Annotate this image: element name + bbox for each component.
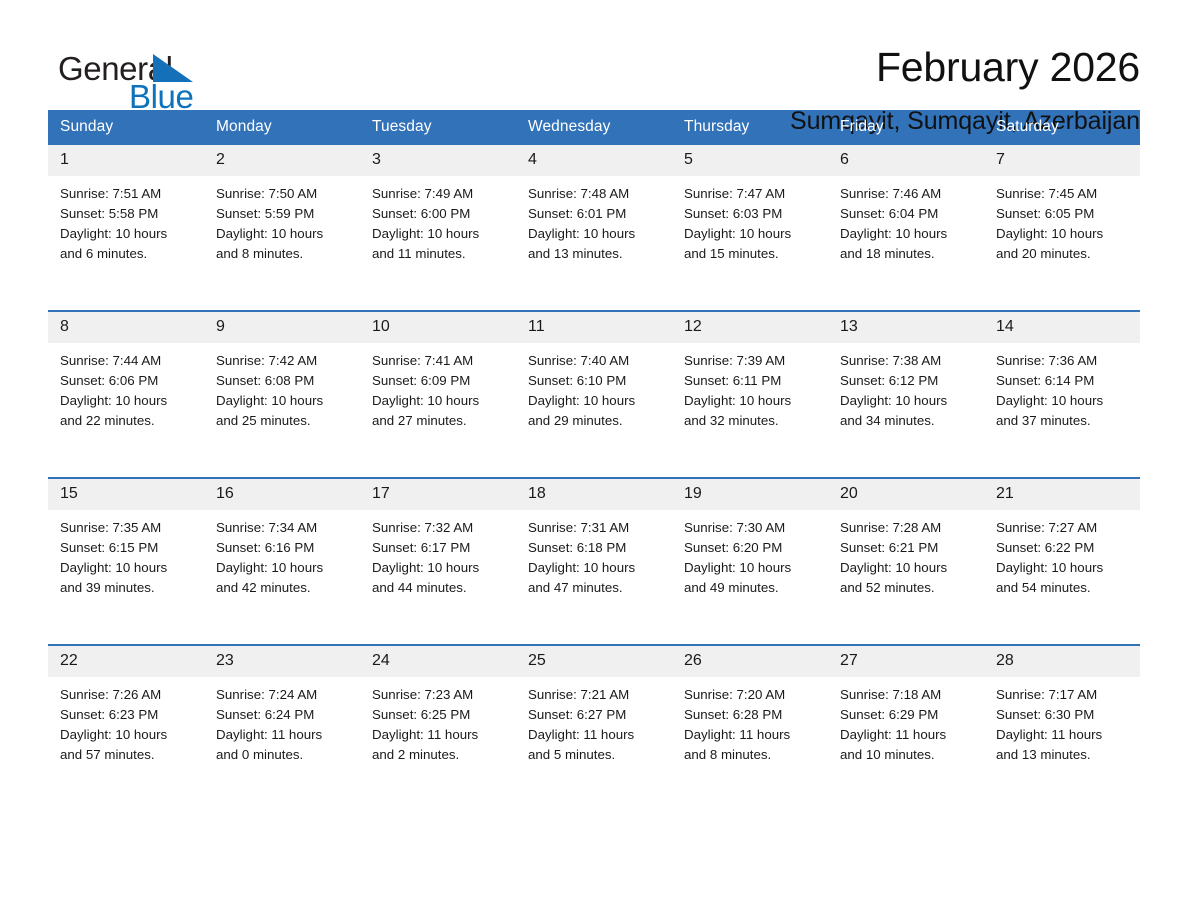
calendar-day-cell[interactable]: 16Sunrise: 7:34 AMSunset: 6:16 PMDayligh…: [204, 478, 360, 645]
daylight-line1-text: Daylight: 11 hours: [996, 725, 1132, 745]
day-details: Sunrise: 7:42 AMSunset: 6:08 PMDaylight:…: [204, 343, 360, 431]
calendar-day-cell[interactable]: 24Sunrise: 7:23 AMSunset: 6:25 PMDayligh…: [360, 645, 516, 811]
calendar-day-cell[interactable]: 21Sunrise: 7:27 AMSunset: 6:22 PMDayligh…: [984, 478, 1140, 645]
sunrise-text: Sunrise: 7:38 AM: [840, 351, 976, 371]
daylight-line1-text: Daylight: 10 hours: [996, 224, 1132, 244]
day-number: 14: [984, 312, 1140, 343]
sunset-text: Sunset: 6:11 PM: [684, 371, 820, 391]
daylight-line2-text: and 52 minutes.: [840, 578, 976, 598]
sunrise-text: Sunrise: 7:49 AM: [372, 184, 508, 204]
daylight-line1-text: Daylight: 10 hours: [216, 224, 352, 244]
day-details: Sunrise: 7:27 AMSunset: 6:22 PMDaylight:…: [984, 510, 1140, 598]
day-details: Sunrise: 7:26 AMSunset: 6:23 PMDaylight:…: [48, 677, 204, 765]
day-number: 2: [204, 145, 360, 176]
day-number: 13: [828, 312, 984, 343]
day-number: 5: [672, 145, 828, 176]
daylight-line2-text: and 25 minutes.: [216, 411, 352, 431]
daylight-line2-text: and 8 minutes.: [216, 244, 352, 264]
day-details: Sunrise: 7:34 AMSunset: 6:16 PMDaylight:…: [204, 510, 360, 598]
calendar-day-cell[interactable]: 3Sunrise: 7:49 AMSunset: 6:00 PMDaylight…: [360, 145, 516, 311]
day-details: Sunrise: 7:24 AMSunset: 6:24 PMDaylight:…: [204, 677, 360, 765]
sunrise-text: Sunrise: 7:44 AM: [60, 351, 196, 371]
daylight-line2-text: and 42 minutes.: [216, 578, 352, 598]
sunrise-text: Sunrise: 7:35 AM: [60, 518, 196, 538]
day-details: Sunrise: 7:35 AMSunset: 6:15 PMDaylight:…: [48, 510, 204, 598]
daylight-line1-text: Daylight: 10 hours: [840, 391, 976, 411]
day-details: Sunrise: 7:47 AMSunset: 6:03 PMDaylight:…: [672, 176, 828, 264]
sunset-text: Sunset: 6:22 PM: [996, 538, 1132, 558]
calendar-day-cell[interactable]: 4Sunrise: 7:48 AMSunset: 6:01 PMDaylight…: [516, 145, 672, 311]
calendar-day-cell[interactable]: 22Sunrise: 7:26 AMSunset: 6:23 PMDayligh…: [48, 645, 204, 811]
day-details: Sunrise: 7:48 AMSunset: 6:01 PMDaylight:…: [516, 176, 672, 264]
sunset-text: Sunset: 6:17 PM: [372, 538, 508, 558]
calendar-week-row: 1Sunrise: 7:51 AMSunset: 5:58 PMDaylight…: [48, 145, 1140, 311]
daylight-line1-text: Daylight: 10 hours: [372, 391, 508, 411]
day-details: Sunrise: 7:23 AMSunset: 6:25 PMDaylight:…: [360, 677, 516, 765]
daylight-line2-text: and 18 minutes.: [840, 244, 976, 264]
logo-text-blue: Blue: [129, 80, 193, 113]
sunrise-text: Sunrise: 7:45 AM: [996, 184, 1132, 204]
sunrise-text: Sunrise: 7:36 AM: [996, 351, 1132, 371]
calendar-day-cell[interactable]: 7Sunrise: 7:45 AMSunset: 6:05 PMDaylight…: [984, 145, 1140, 311]
page-title: February 2026: [208, 44, 1140, 90]
calendar-day-cell[interactable]: 10Sunrise: 7:41 AMSunset: 6:09 PMDayligh…: [360, 311, 516, 478]
daylight-line2-text: and 32 minutes.: [684, 411, 820, 431]
sunrise-text: Sunrise: 7:41 AM: [372, 351, 508, 371]
day-number: 11: [516, 312, 672, 343]
day-number: 24: [360, 646, 516, 677]
calendar-day-cell[interactable]: 15Sunrise: 7:35 AMSunset: 6:15 PMDayligh…: [48, 478, 204, 645]
daylight-line2-text: and 37 minutes.: [996, 411, 1132, 431]
day-number: 15: [48, 479, 204, 510]
sunset-text: Sunset: 6:05 PM: [996, 204, 1132, 224]
calendar-day-cell[interactable]: 20Sunrise: 7:28 AMSunset: 6:21 PMDayligh…: [828, 478, 984, 645]
daylight-line1-text: Daylight: 10 hours: [996, 391, 1132, 411]
calendar-day-cell[interactable]: 14Sunrise: 7:36 AMSunset: 6:14 PMDayligh…: [984, 311, 1140, 478]
sunset-text: Sunset: 6:28 PM: [684, 705, 820, 725]
daylight-line2-text: and 2 minutes.: [372, 745, 508, 765]
daylight-line2-text: and 49 minutes.: [684, 578, 820, 598]
day-number: 6: [828, 145, 984, 176]
sunset-text: Sunset: 6:08 PM: [216, 371, 352, 391]
day-number: 16: [204, 479, 360, 510]
calendar-day-cell[interactable]: 13Sunrise: 7:38 AMSunset: 6:12 PMDayligh…: [828, 311, 984, 478]
day-details: Sunrise: 7:21 AMSunset: 6:27 PMDaylight:…: [516, 677, 672, 765]
day-details: Sunrise: 7:51 AMSunset: 5:58 PMDaylight:…: [48, 176, 204, 264]
daylight-line1-text: Daylight: 10 hours: [216, 558, 352, 578]
calendar-day-cell[interactable]: 12Sunrise: 7:39 AMSunset: 6:11 PMDayligh…: [672, 311, 828, 478]
daylight-line2-text: and 10 minutes.: [840, 745, 976, 765]
calendar-week-row: 8Sunrise: 7:44 AMSunset: 6:06 PMDaylight…: [48, 311, 1140, 478]
day-number: 9: [204, 312, 360, 343]
daylight-line1-text: Daylight: 10 hours: [216, 391, 352, 411]
calendar-day-cell[interactable]: 17Sunrise: 7:32 AMSunset: 6:17 PMDayligh…: [360, 478, 516, 645]
day-details: Sunrise: 7:44 AMSunset: 6:06 PMDaylight:…: [48, 343, 204, 431]
daylight-line2-text: and 54 minutes.: [996, 578, 1132, 598]
sunset-text: Sunset: 6:10 PM: [528, 371, 664, 391]
daylight-line2-text: and 47 minutes.: [528, 578, 664, 598]
day-number: 12: [672, 312, 828, 343]
calendar-week-row: 22Sunrise: 7:26 AMSunset: 6:23 PMDayligh…: [48, 645, 1140, 811]
daylight-line1-text: Daylight: 11 hours: [216, 725, 352, 745]
calendar-day-cell[interactable]: 25Sunrise: 7:21 AMSunset: 6:27 PMDayligh…: [516, 645, 672, 811]
day-details: Sunrise: 7:39 AMSunset: 6:11 PMDaylight:…: [672, 343, 828, 431]
daylight-line2-text: and 20 minutes.: [996, 244, 1132, 264]
daylight-line2-text: and 13 minutes.: [528, 244, 664, 264]
calendar-week-row: 15Sunrise: 7:35 AMSunset: 6:15 PMDayligh…: [48, 478, 1140, 645]
daylight-line2-text: and 27 minutes.: [372, 411, 508, 431]
sunset-text: Sunset: 6:01 PM: [528, 204, 664, 224]
calendar-day-cell[interactable]: 23Sunrise: 7:24 AMSunset: 6:24 PMDayligh…: [204, 645, 360, 811]
calendar-day-cell[interactable]: 11Sunrise: 7:40 AMSunset: 6:10 PMDayligh…: [516, 311, 672, 478]
sunset-text: Sunset: 6:27 PM: [528, 705, 664, 725]
day-details: Sunrise: 7:40 AMSunset: 6:10 PMDaylight:…: [516, 343, 672, 431]
page-header: General Blue February 2026 Sumqayit, Sum…: [48, 0, 1140, 96]
calendar-day-cell[interactable]: 8Sunrise: 7:44 AMSunset: 6:06 PMDaylight…: [48, 311, 204, 478]
sunrise-text: Sunrise: 7:42 AM: [216, 351, 352, 371]
daylight-line1-text: Daylight: 10 hours: [684, 391, 820, 411]
day-details: Sunrise: 7:50 AMSunset: 5:59 PMDaylight:…: [204, 176, 360, 264]
sunrise-text: Sunrise: 7:26 AM: [60, 685, 196, 705]
calendar-body: 1Sunrise: 7:51 AMSunset: 5:58 PMDaylight…: [48, 145, 1140, 811]
daylight-line1-text: Daylight: 11 hours: [528, 725, 664, 745]
sunrise-text: Sunrise: 7:32 AM: [372, 518, 508, 538]
calendar-day-cell[interactable]: 27Sunrise: 7:18 AMSunset: 6:29 PMDayligh…: [828, 645, 984, 811]
sunrise-text: Sunrise: 7:40 AM: [528, 351, 664, 371]
day-details: Sunrise: 7:30 AMSunset: 6:20 PMDaylight:…: [672, 510, 828, 598]
sunset-text: Sunset: 6:25 PM: [372, 705, 508, 725]
day-number: 3: [360, 145, 516, 176]
daylight-line2-text: and 13 minutes.: [996, 745, 1132, 765]
sunset-text: Sunset: 6:14 PM: [996, 371, 1132, 391]
sunrise-text: Sunrise: 7:28 AM: [840, 518, 976, 538]
daylight-line1-text: Daylight: 11 hours: [840, 725, 976, 745]
daylight-line1-text: Daylight: 10 hours: [372, 558, 508, 578]
day-number: 20: [828, 479, 984, 510]
calendar-day-cell[interactable]: 19Sunrise: 7:30 AMSunset: 6:20 PMDayligh…: [672, 478, 828, 645]
sunset-text: Sunset: 6:00 PM: [372, 204, 508, 224]
daylight-line2-text: and 44 minutes.: [372, 578, 508, 598]
daylight-line2-text: and 22 minutes.: [60, 411, 196, 431]
daylight-line1-text: Daylight: 10 hours: [684, 558, 820, 578]
calendar-day-cell[interactable]: 1Sunrise: 7:51 AMSunset: 5:58 PMDaylight…: [48, 145, 204, 311]
sunset-text: Sunset: 6:20 PM: [684, 538, 820, 558]
sunset-text: Sunset: 5:58 PM: [60, 204, 196, 224]
calendar-day-cell[interactable]: 18Sunrise: 7:31 AMSunset: 6:18 PMDayligh…: [516, 478, 672, 645]
daylight-line2-text: and 0 minutes.: [216, 745, 352, 765]
day-number: 21: [984, 479, 1140, 510]
sunrise-text: Sunrise: 7:18 AM: [840, 685, 976, 705]
sunrise-text: Sunrise: 7:20 AM: [684, 685, 820, 705]
day-number: 27: [828, 646, 984, 677]
daylight-line2-text: and 8 minutes.: [684, 745, 820, 765]
sunrise-text: Sunrise: 7:34 AM: [216, 518, 352, 538]
daylight-line1-text: Daylight: 10 hours: [60, 391, 196, 411]
day-number: 26: [672, 646, 828, 677]
day-details: Sunrise: 7:41 AMSunset: 6:09 PMDaylight:…: [360, 343, 516, 431]
daylight-line1-text: Daylight: 10 hours: [840, 224, 976, 244]
calendar-day-cell[interactable]: 2Sunrise: 7:50 AMSunset: 5:59 PMDaylight…: [204, 145, 360, 311]
daylight-line1-text: Daylight: 10 hours: [60, 224, 196, 244]
daylight-line2-text: and 11 minutes.: [372, 244, 508, 264]
sunset-text: Sunset: 6:04 PM: [840, 204, 976, 224]
sunrise-text: Sunrise: 7:24 AM: [216, 685, 352, 705]
calendar-day-cell[interactable]: 5Sunrise: 7:47 AMSunset: 6:03 PMDaylight…: [672, 145, 828, 311]
day-number: 1: [48, 145, 204, 176]
day-details: Sunrise: 7:20 AMSunset: 6:28 PMDaylight:…: [672, 677, 828, 765]
sunrise-text: Sunrise: 7:30 AM: [684, 518, 820, 538]
calendar-day-cell[interactable]: 26Sunrise: 7:20 AMSunset: 6:28 PMDayligh…: [672, 645, 828, 811]
day-number: 18: [516, 479, 672, 510]
sunset-text: Sunset: 6:16 PM: [216, 538, 352, 558]
day-number: 28: [984, 646, 1140, 677]
daylight-line2-text: and 34 minutes.: [840, 411, 976, 431]
sunset-text: Sunset: 6:09 PM: [372, 371, 508, 391]
sunset-text: Sunset: 6:23 PM: [60, 705, 196, 725]
daylight-line2-text: and 6 minutes.: [60, 244, 196, 264]
sunset-text: Sunset: 5:59 PM: [216, 204, 352, 224]
calendar-table: Sunday Monday Tuesday Wednesday Thursday…: [48, 110, 1140, 811]
daylight-line1-text: Daylight: 11 hours: [684, 725, 820, 745]
sunset-text: Sunset: 6:21 PM: [840, 538, 976, 558]
daylight-line1-text: Daylight: 11 hours: [372, 725, 508, 745]
daylight-line1-text: Daylight: 10 hours: [528, 391, 664, 411]
day-number: 10: [360, 312, 516, 343]
day-details: Sunrise: 7:38 AMSunset: 6:12 PMDaylight:…: [828, 343, 984, 431]
day-number: 23: [204, 646, 360, 677]
sunrise-text: Sunrise: 7:27 AM: [996, 518, 1132, 538]
calendar-day-cell[interactable]: 6Sunrise: 7:46 AMSunset: 6:04 PMDaylight…: [828, 145, 984, 311]
sunrise-text: Sunrise: 7:46 AM: [840, 184, 976, 204]
day-details: Sunrise: 7:49 AMSunset: 6:00 PMDaylight:…: [360, 176, 516, 264]
sunrise-text: Sunrise: 7:39 AM: [684, 351, 820, 371]
sunrise-text: Sunrise: 7:21 AM: [528, 685, 664, 705]
day-details: Sunrise: 7:18 AMSunset: 6:29 PMDaylight:…: [828, 677, 984, 765]
day-details: Sunrise: 7:45 AMSunset: 6:05 PMDaylight:…: [984, 176, 1140, 264]
sunset-text: Sunset: 6:12 PM: [840, 371, 976, 391]
daylight-line2-text: and 5 minutes.: [528, 745, 664, 765]
daylight-line1-text: Daylight: 10 hours: [60, 725, 196, 745]
daylight-line1-text: Daylight: 10 hours: [996, 558, 1132, 578]
sunset-text: Sunset: 6:29 PM: [840, 705, 976, 725]
day-number: 4: [516, 145, 672, 176]
sunrise-text: Sunrise: 7:51 AM: [60, 184, 196, 204]
sunset-text: Sunset: 6:03 PM: [684, 204, 820, 224]
day-details: Sunrise: 7:36 AMSunset: 6:14 PMDaylight:…: [984, 343, 1140, 431]
sunrise-text: Sunrise: 7:23 AM: [372, 685, 508, 705]
daylight-line2-text: and 15 minutes.: [684, 244, 820, 264]
day-number: 19: [672, 479, 828, 510]
sunrise-text: Sunrise: 7:47 AM: [684, 184, 820, 204]
sunrise-text: Sunrise: 7:48 AM: [528, 184, 664, 204]
calendar-day-cell[interactable]: 9Sunrise: 7:42 AMSunset: 6:08 PMDaylight…: [204, 311, 360, 478]
sunset-text: Sunset: 6:24 PM: [216, 705, 352, 725]
daylight-line1-text: Daylight: 10 hours: [840, 558, 976, 578]
sunrise-text: Sunrise: 7:50 AM: [216, 184, 352, 204]
day-number: 22: [48, 646, 204, 677]
calendar-day-cell[interactable]: 28Sunrise: 7:17 AMSunset: 6:30 PMDayligh…: [984, 645, 1140, 811]
day-number: 8: [48, 312, 204, 343]
day-number: 25: [516, 646, 672, 677]
daylight-line1-text: Daylight: 10 hours: [684, 224, 820, 244]
sunset-text: Sunset: 6:18 PM: [528, 538, 664, 558]
daylight-line2-text: and 39 minutes.: [60, 578, 196, 598]
daylight-line1-text: Daylight: 10 hours: [528, 224, 664, 244]
day-number: 7: [984, 145, 1140, 176]
sunset-text: Sunset: 6:06 PM: [60, 371, 196, 391]
daylight-line1-text: Daylight: 10 hours: [372, 224, 508, 244]
day-number: 17: [360, 479, 516, 510]
daylight-line2-text: and 57 minutes.: [60, 745, 196, 765]
general-blue-logo: General Blue: [48, 44, 208, 118]
daylight-line1-text: Daylight: 10 hours: [60, 558, 196, 578]
sunrise-text: Sunrise: 7:31 AM: [528, 518, 664, 538]
day-details: Sunrise: 7:32 AMSunset: 6:17 PMDaylight:…: [360, 510, 516, 598]
day-details: Sunrise: 7:46 AMSunset: 6:04 PMDaylight:…: [828, 176, 984, 264]
daylight-line1-text: Daylight: 10 hours: [528, 558, 664, 578]
sunrise-text: Sunrise: 7:17 AM: [996, 685, 1132, 705]
calendar-page: General Blue February 2026 Sumqayit, Sum…: [0, 0, 1188, 918]
day-details: Sunrise: 7:31 AMSunset: 6:18 PMDaylight:…: [516, 510, 672, 598]
day-details: Sunrise: 7:17 AMSunset: 6:30 PMDaylight:…: [984, 677, 1140, 765]
sunset-text: Sunset: 6:30 PM: [996, 705, 1132, 725]
daylight-line2-text: and 29 minutes.: [528, 411, 664, 431]
day-details: Sunrise: 7:28 AMSunset: 6:21 PMDaylight:…: [828, 510, 984, 598]
sunset-text: Sunset: 6:15 PM: [60, 538, 196, 558]
